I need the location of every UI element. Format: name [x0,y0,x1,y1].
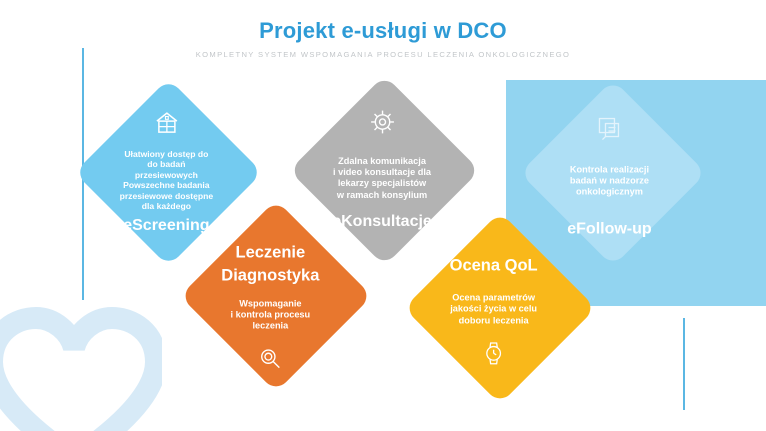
card-ocena-qol-title: Ocena QoL [450,255,538,275]
watch-icon [483,341,505,365]
slide-header: Projekt e-usługi w DCO KOMPLETNY SYSTEM … [0,18,766,59]
page-title: Projekt e-usługi w DCO [0,18,766,44]
page-subtitle: KOMPLETNY SYSTEM WSPOMAGANIA PROCESU LEC… [0,50,766,59]
card-efollow-up-body: Kontrola realizacji badań w nadzorze onk… [570,165,649,199]
gear-icon [369,109,395,135]
slide-canvas: Projekt e-usługi w DCO KOMPLETNY SYSTEM … [0,0,766,431]
card-ekonsultacje-title: eKonsultacje [332,212,432,232]
card-escreening-body: Ułatwiony dostęp do do badań przesiewowy… [120,149,214,212]
house-icon [153,111,179,135]
card-leczenie-diagnostyka-body: Wspomaganie i kontrola procesu leczenia [231,299,311,333]
heart-decoration-icon [0,300,162,431]
card-escreening-title: eScreening [123,216,209,236]
card-efollow-up-title: eFollow-up [567,219,651,239]
card-ekonsultacje-body: Zdalna komunikacja i video konsultacje d… [333,156,431,201]
monitor-document-icon [596,116,622,142]
magnifier-icon [258,346,282,370]
card-leczenie-diagnostyka-title: Leczenie Diagnostyka [221,242,319,289]
card-ocena-qol-body: Ocena parametrów jakości życia w celu do… [450,292,537,326]
right-accent-line [683,318,685,410]
